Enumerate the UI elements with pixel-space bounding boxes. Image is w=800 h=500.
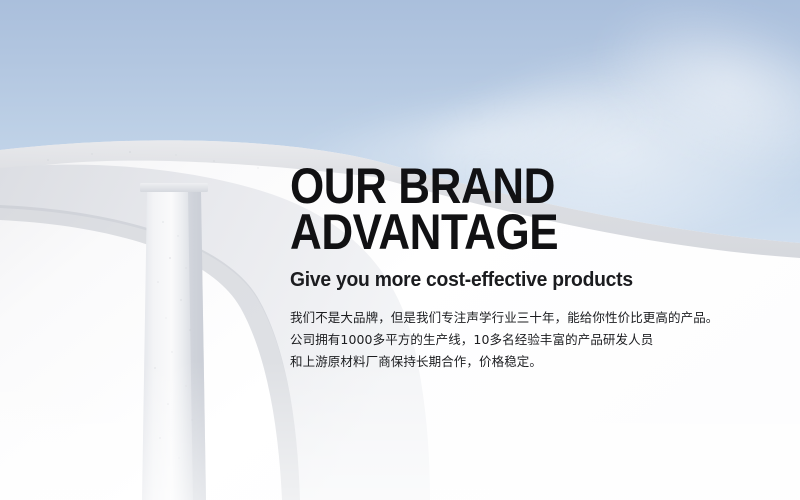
body-paragraph: 我们不是大品牌，但是我们专注声学行业三十年，能给你性价比更高的产品。 公司拥有1… [290, 307, 760, 373]
brand-advantage-banner: OUR BRAND ADVANTAGE Give you more cost-e… [0, 0, 800, 500]
bottom-light-fade [0, 360, 800, 500]
body-line: 公司拥有1000多平方的生产线，10多名经验丰富的产品研发人员 [290, 329, 760, 351]
text-content-block: OUR BRAND ADVANTAGE Give you more cost-e… [290, 163, 760, 373]
body-line: 和上游原材料厂商保持长期合作，价格稳定。 [290, 351, 760, 373]
subheadline: Give you more cost-effective products [290, 268, 744, 292]
pillar-cap [140, 183, 208, 192]
body-line: 我们不是大品牌，但是我们专注声学行业三十年，能给你性价比更高的产品。 [290, 307, 760, 329]
page-title: OUR BRAND ADVANTAGE [290, 163, 704, 255]
